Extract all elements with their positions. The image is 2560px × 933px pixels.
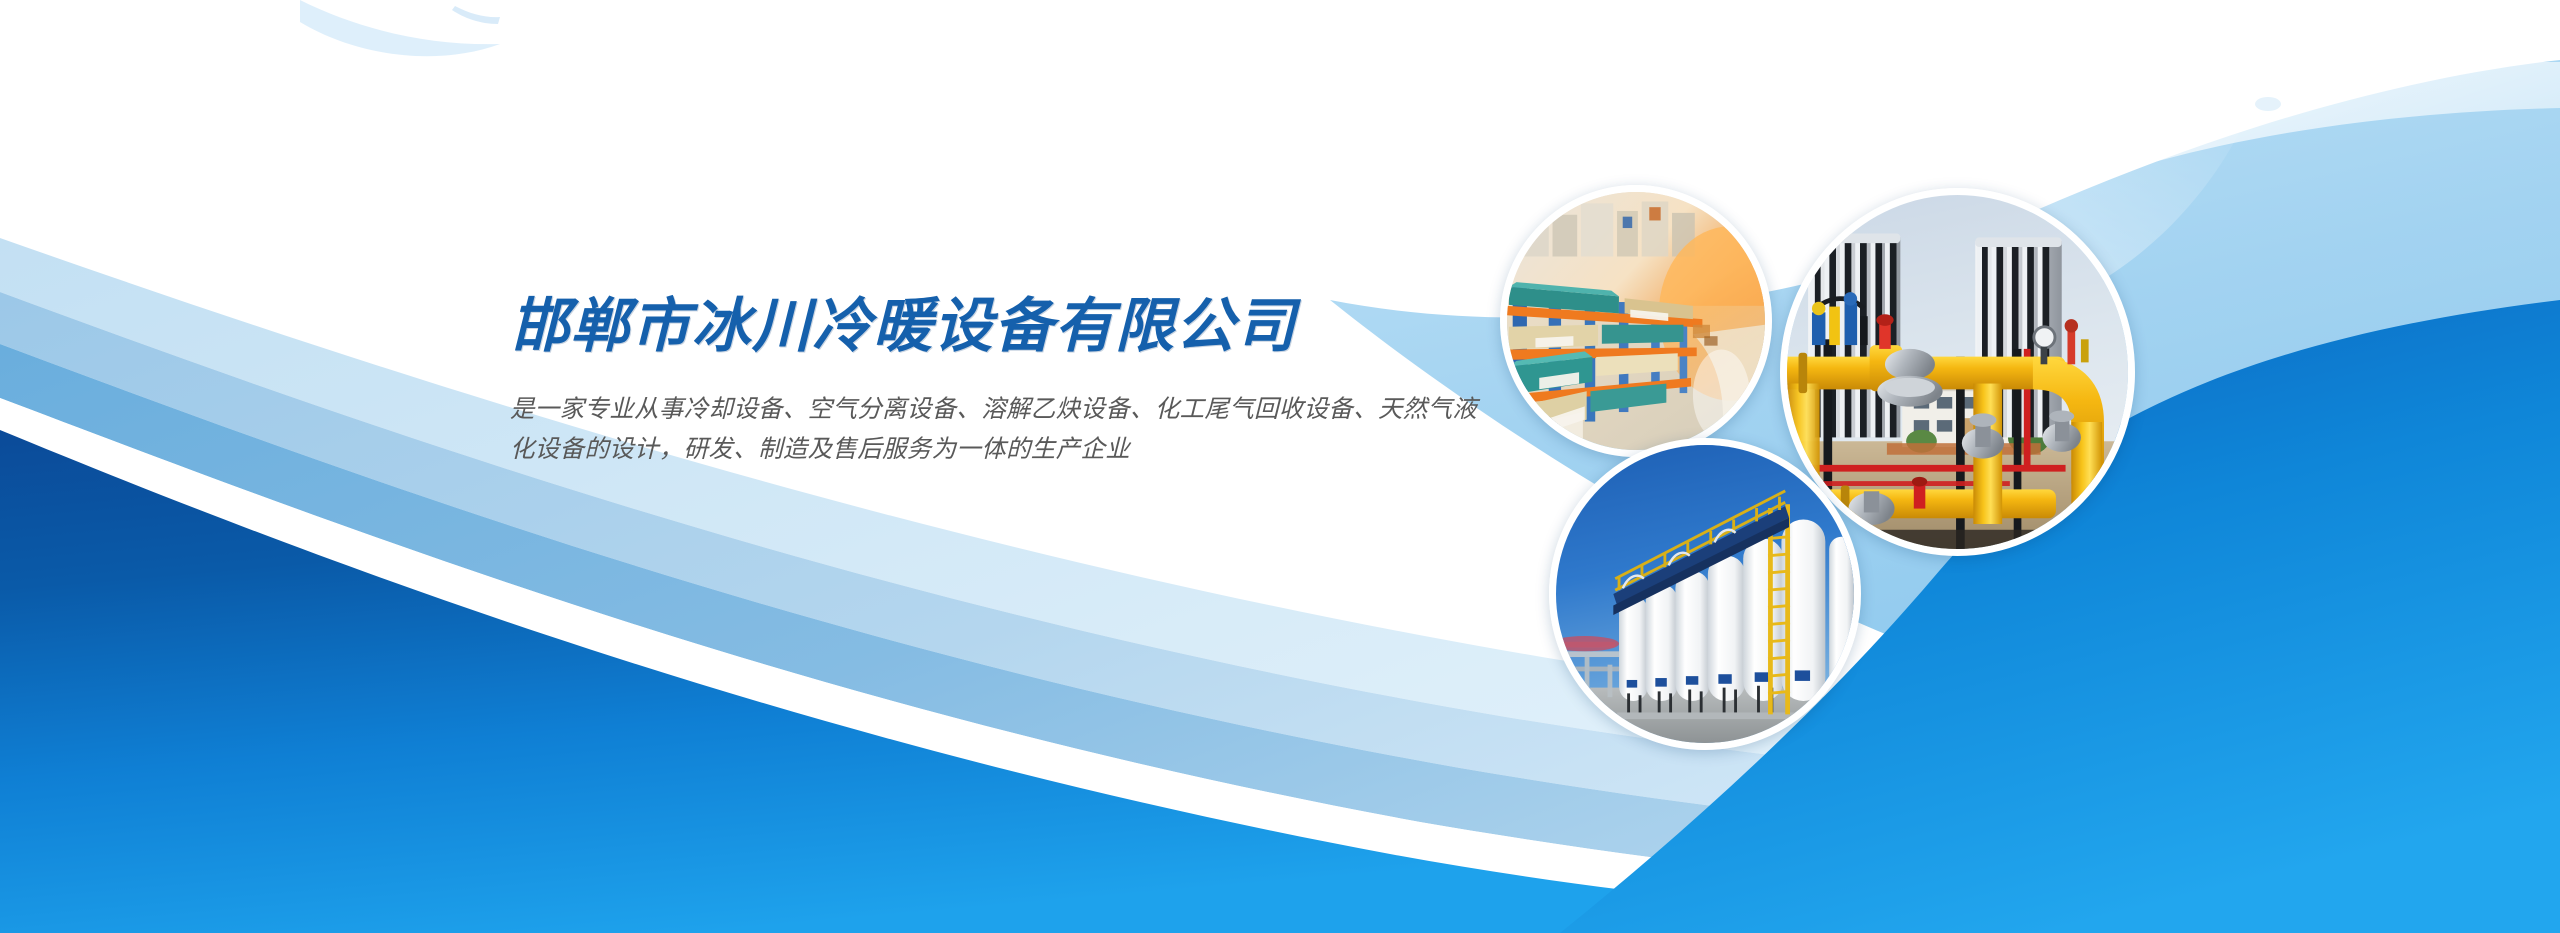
tanks-photo-content: [1556, 445, 1854, 743]
company-description: 是一家专业从事冷却设备、空气分离设备、溶解乙炔设备、化工尾气回收设备、天然气液化…: [510, 389, 1490, 468]
company-banner: 邯郸市冰川冷暖设备有限公司 是一家专业从事冷却设备、空气分离设备、溶解乙炔设备、…: [0, 0, 2560, 933]
warehouse-photo-content: [1507, 192, 1765, 450]
photo-warehouse-racking: [1500, 185, 1772, 457]
top-arc-wisp: [300, 0, 500, 56]
photo-cryogenic-tank-farm: [1549, 438, 1861, 750]
page-title: 邯郸市冰川冷暖设备有限公司: [510, 296, 1520, 355]
banner-text-block: 邯郸市冰川冷暖设备有限公司 是一家专业从事冷却设备、空气分离设备、溶解乙炔设备、…: [510, 296, 1520, 468]
